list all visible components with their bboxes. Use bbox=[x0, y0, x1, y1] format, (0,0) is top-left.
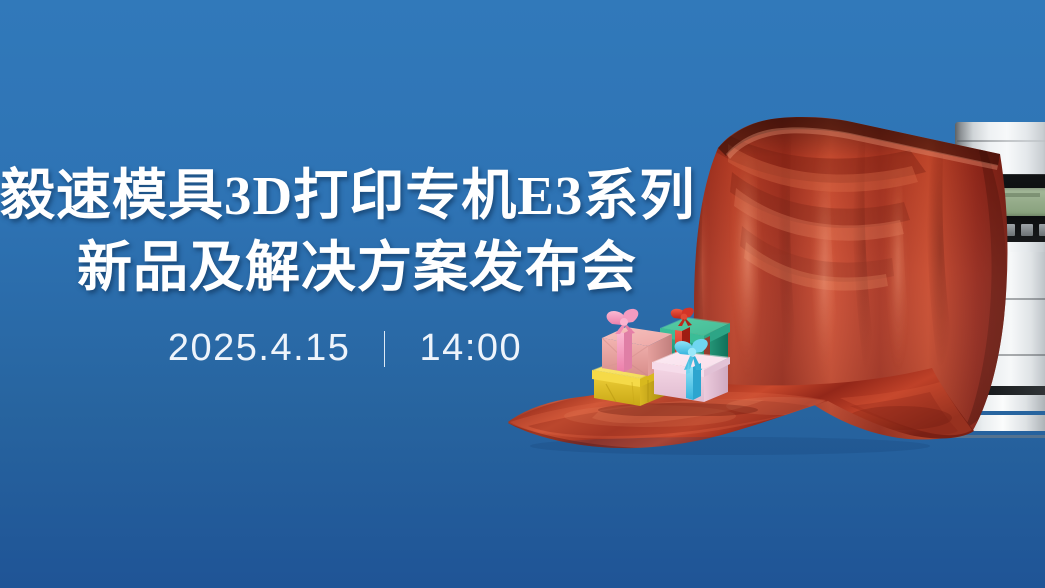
machine-seam bbox=[955, 298, 1045, 300]
event-poster: 毅速模具3D打印专机E3系列 新品及解决方案发布会 2025.4.15 14:0… bbox=[0, 0, 1045, 588]
poster-text-block: 毅速模具3D打印专机E3系列 新品及解决方案发布会 2025.4.15 14:0… bbox=[0, 160, 720, 370]
machine-button bbox=[1003, 224, 1015, 236]
machine-button bbox=[1039, 224, 1045, 236]
machine-lower-face bbox=[955, 252, 1045, 390]
page-title-line-1: 毅速模具3D打印专机E3系列 bbox=[0, 160, 720, 232]
machine-plinth-shadow bbox=[951, 435, 1045, 438]
event-date: 2025.4.15 bbox=[168, 327, 351, 369]
event-time: 14:00 bbox=[420, 327, 523, 369]
lcd-text-line bbox=[986, 193, 1040, 197]
machine-button bbox=[985, 224, 997, 236]
event-datetime: 2025.4.15 14:00 bbox=[0, 326, 720, 370]
page-title-line-2: 新品及解决方案发布会 bbox=[0, 232, 720, 304]
machine-seam bbox=[955, 354, 1045, 356]
machine-top-seam bbox=[957, 140, 1045, 142]
machine-plinth-tier bbox=[951, 415, 1045, 431]
3d-printer-machine bbox=[955, 122, 1045, 438]
machine-button-row bbox=[985, 224, 1045, 236]
machine-button bbox=[1021, 224, 1033, 236]
machine-control-panel bbox=[969, 174, 1045, 242]
machine-plinth-tier bbox=[951, 395, 1045, 411]
machine-base-shadow-gap bbox=[955, 386, 1045, 395]
datetime-separator bbox=[384, 331, 385, 367]
machine-lcd-screen bbox=[983, 188, 1045, 216]
